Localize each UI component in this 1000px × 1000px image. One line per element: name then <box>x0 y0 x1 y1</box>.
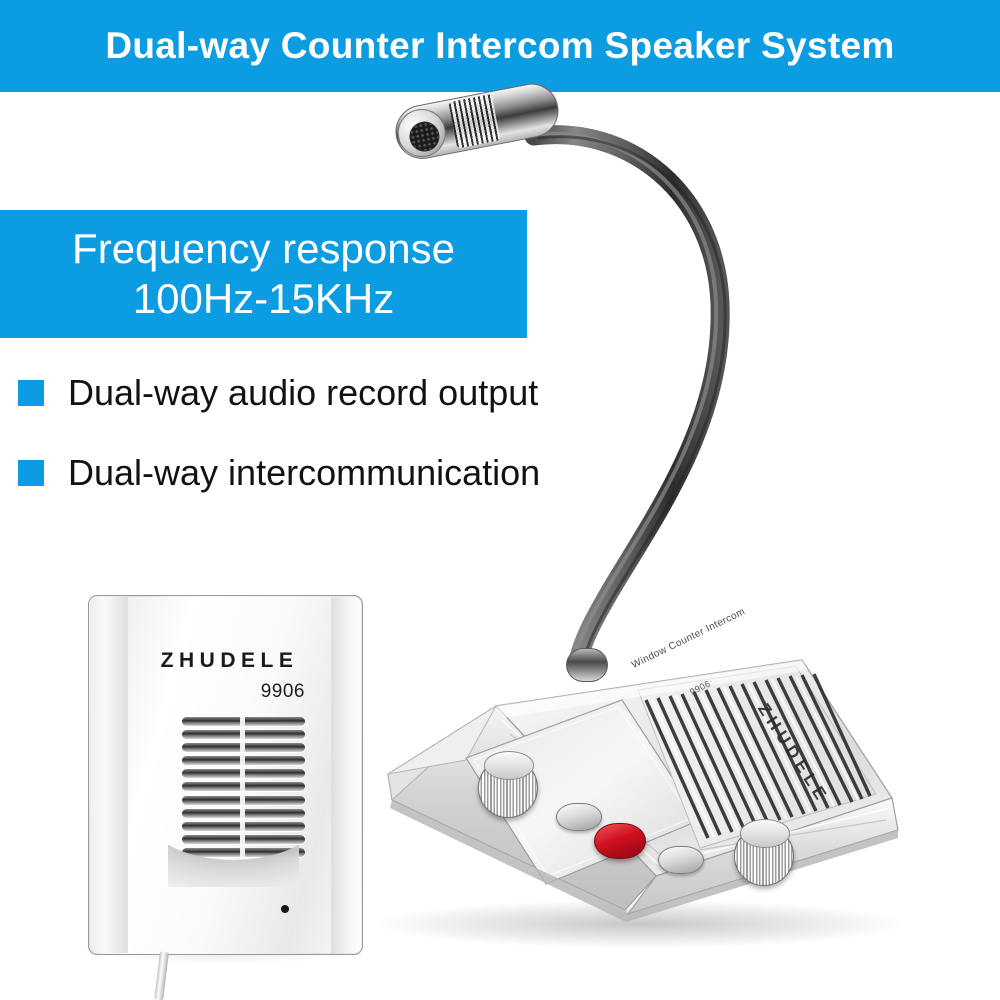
grille-slat <box>182 756 305 765</box>
volume-knob-left[interactable] <box>478 758 538 818</box>
feature-label: Dual-way intercommunication <box>68 452 540 494</box>
frequency-response-label: Frequency response <box>72 224 455 274</box>
grille-slat <box>182 809 305 818</box>
mic-stem-collar <box>566 648 608 682</box>
grille-slat <box>182 717 305 726</box>
wall-unit-brand: ZHUDELE <box>128 649 331 673</box>
grille-slat <box>182 743 305 752</box>
talk-button[interactable] <box>594 823 646 859</box>
button-right[interactable] <box>658 846 704 874</box>
button-left[interactable] <box>556 803 602 831</box>
mic-mesh-icon <box>407 119 442 154</box>
frequency-response-value: 100Hz-15KHz <box>133 274 394 324</box>
grille-slat <box>182 730 305 739</box>
wall-unit-contour-band <box>168 841 299 887</box>
page-title: Dual-way Counter Intercom Speaker System <box>0 0 1000 92</box>
wall-unit-model: 9906 <box>261 681 305 703</box>
product-marketing-image: Dual-way Counter Intercom Speaker System… <box>0 0 1000 1000</box>
volume-knob-right[interactable] <box>734 826 794 886</box>
grille-slat <box>182 822 305 831</box>
bullet-square-icon <box>18 380 44 406</box>
wall-unit-led-indicator <box>281 905 289 913</box>
gooseneck-mic-arm <box>520 118 750 678</box>
feature-label: Dual-way audio record output <box>68 372 538 414</box>
wall-unit-left-bezel <box>90 597 129 953</box>
bullet-square-icon <box>18 460 44 486</box>
grille-slat <box>182 782 305 791</box>
grille-slat <box>182 769 305 778</box>
frequency-response-box: Frequency response 100Hz-15KHz <box>0 210 527 338</box>
wall-unit-body: ZHUDELE 9906 <box>88 595 363 955</box>
wall-intercom-unit: ZHUDELE 9906 <box>88 595 363 955</box>
wall-unit-right-bezel <box>330 597 361 953</box>
wall-unit-faceplate: ZHUDELE 9906 <box>128 597 331 953</box>
header-banner: Dual-way Counter Intercom Speaker System <box>0 0 1000 92</box>
grille-slat <box>182 796 305 805</box>
mic-vent-slots <box>448 94 500 149</box>
